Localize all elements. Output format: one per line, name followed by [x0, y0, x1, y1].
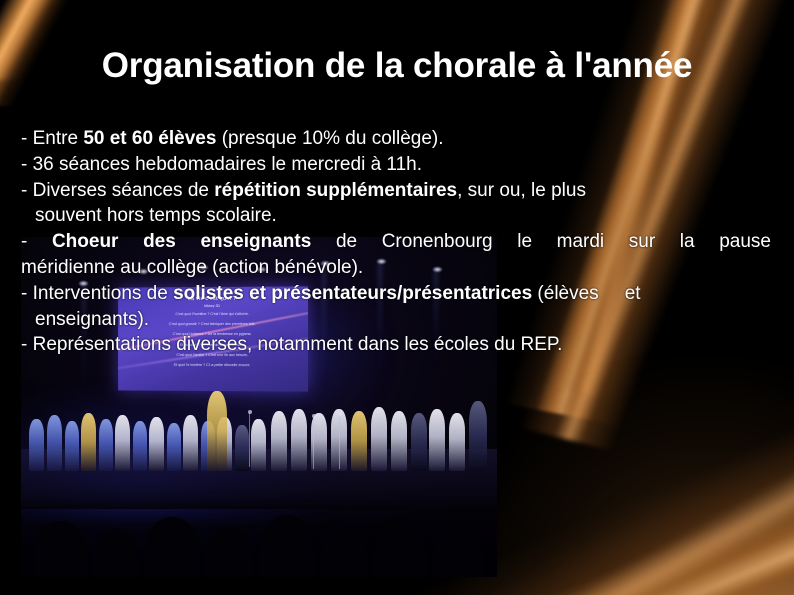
choir-members-group: [21, 385, 497, 471]
bullet-item-2: - 36 séances hebdomadaires le mercredi à…: [21, 152, 773, 178]
bullet-3-emphasis: répétition supplémentaires: [214, 180, 457, 201]
bullet-item-6: - Représentations diverses, notamment da…: [21, 332, 773, 358]
microphone-stand-icon: [339, 415, 340, 469]
bullet-4-tail: de Cronenbourg le mardi sur la pause: [311, 231, 771, 252]
bullet-5-tail2: et: [625, 283, 641, 304]
bullet-4-lead: -: [21, 231, 52, 252]
bullet-item-3-continuation: souvent hors temps scolaire.: [21, 203, 773, 229]
bullet-4-emphasis: Choeur des enseignants: [52, 231, 311, 252]
bullet-item-5: - Interventions de solistes et présentat…: [21, 281, 773, 307]
slide-body-text: - Entre 50 et 60 élèves (presque 10% du …: [21, 126, 773, 358]
bullet-5-lead: - Interventions de: [21, 283, 173, 304]
bullet-item-4-continuation: méridienne au collège (action bénévole).: [21, 255, 773, 281]
projected-lyric-line: Et quoi l'e lumière ? C'l-a petite étinc…: [118, 360, 308, 371]
presentation-slide: Organisation de la chorale à l'année La …: [0, 0, 794, 595]
bullet-3-lead: - Diverses séances de: [21, 180, 214, 201]
conductor-figure: [207, 391, 227, 471]
bullet-5-emphasis: solistes et présentateurs/présentatrices: [173, 283, 532, 304]
bullet-5-tail: (élèves: [532, 283, 599, 304]
glow-bottom-right-icon: [454, 355, 794, 595]
stagehand-figure: [469, 401, 487, 471]
microphone-stand-icon: [313, 417, 314, 469]
microphone-stand-icon: [249, 413, 250, 467]
bullet-item-1: - Entre 50 et 60 élèves (presque 10% du …: [21, 126, 773, 152]
bullet-item-5-continuation: enseignants).: [21, 307, 773, 333]
bullet-item-4: - Choeur des enseignants de Cronenbourg …: [21, 229, 771, 255]
bullet-3-tail: , sur ou, le plus: [457, 180, 586, 201]
bullet-1-tail: (presque 10% du collège).: [216, 128, 443, 149]
bullet-1-lead: - Entre: [21, 128, 83, 149]
bullet-1-emphasis: 50 et 60 élèves: [83, 128, 216, 149]
slide-title: Organisation de la chorale à l'année: [0, 44, 794, 88]
bullet-item-3: - Diverses séances de répétition supplém…: [21, 178, 773, 204]
